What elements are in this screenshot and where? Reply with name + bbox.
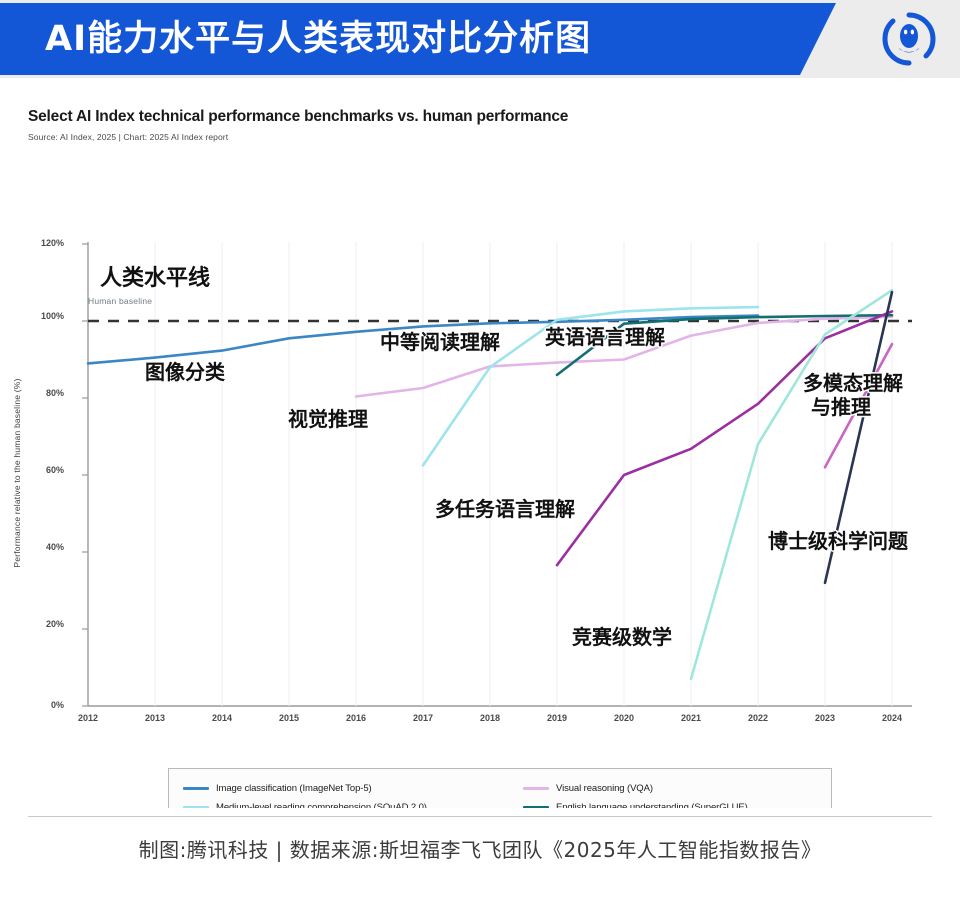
y-tick-marks [82,244,88,706]
footer-divider [28,816,932,817]
annotation-human-baseline: 人类水平线 [100,260,210,292]
qq-penguin-logo-icon [880,10,938,68]
legend-item[interactable]: Image classification (ImageNet Top-5) [183,783,523,794]
legend-color-swatch [523,787,549,790]
footer-credit: 制图:腾讯科技 | 数据来源:斯坦福李飞飞团队《2025年人工智能指数报告》 [0,834,960,863]
annotation-image-classification: 图像分类 [145,356,225,385]
chart-svg [0,78,960,808]
annotation-multitask-language: 多任务语言理解 [435,493,575,522]
annotation-competition-math: 竞赛级数学 [572,621,672,650]
plot-area: Performance relative to the human baseli… [0,78,960,808]
chart-card: Select AI Index technical performance be… [0,78,960,808]
legend-label: Visual reasoning (VQA) [556,783,653,794]
page-title: AI能力水平与人类表现对比分析图 [45,12,805,66]
page-header: AI能力水平与人类表现对比分析图 [0,0,960,78]
page-footer: 制图:腾讯科技 | 数据来源:斯坦福李飞飞团队《2025年人工智能指数报告》 [0,808,960,899]
human-baseline-label: Human baseline [88,296,152,306]
legend-label: Image classification (ImageNet Top-5) [216,783,372,794]
legend-color-swatch [183,787,209,790]
series-line [691,290,892,679]
annotation-reading-comprehension: 中等阅读理解 [380,326,500,355]
legend-item[interactable]: Visual reasoning (VQA) [523,783,843,794]
annotation-phd-science: 博士级科学问题 [768,525,908,554]
vertical-gridlines [155,242,892,706]
annotation-english-understanding: 英语语言理解 [545,321,665,350]
annotation-visual-reasoning: 视觉推理 [288,403,368,432]
annotation-multimodal-line2: 与推理 [811,391,871,420]
